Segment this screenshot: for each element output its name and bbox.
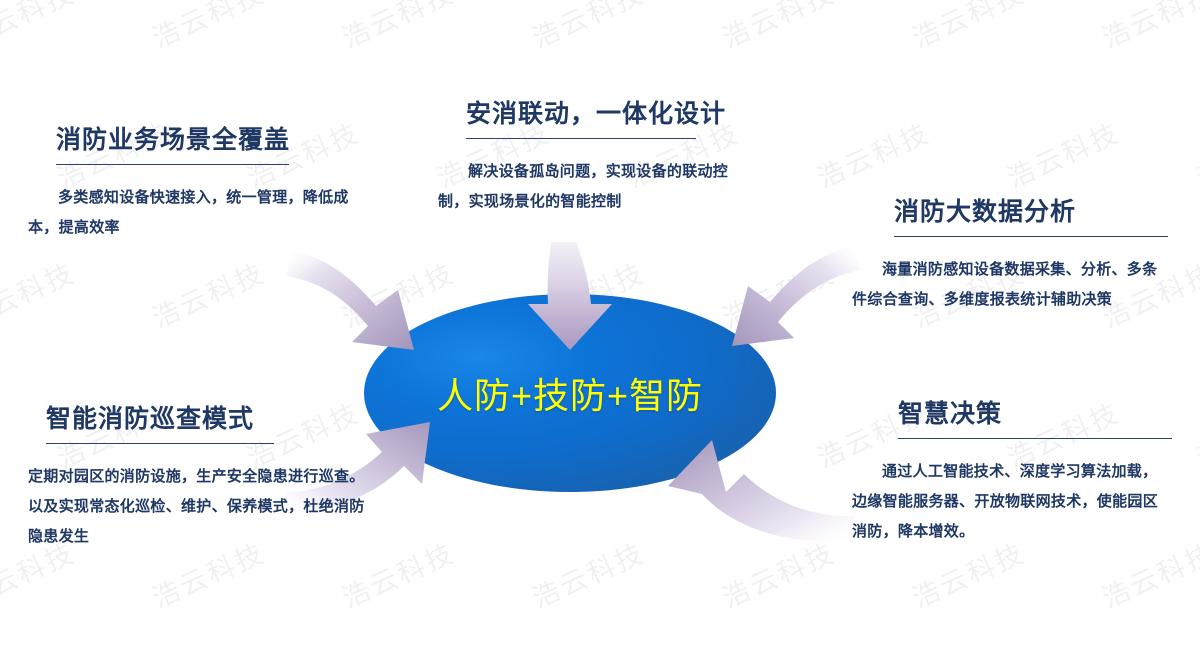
- callout-coverage-rule: [56, 164, 289, 165]
- callout-bigdata: 消防大数据分析 海量消防感知设备数据采集、分析、多条件综合查询、多维度报表统计辅…: [852, 198, 1172, 315]
- watermark-text: 浩云科技: [905, 0, 1030, 56]
- diagram-canvas: 浩云科技浩云科技浩云科技浩云科技浩云科技浩云科技浩云科技浩云科技浩云科技浩云科技…: [0, 0, 1200, 669]
- callout-integration: 安消联动，一体化设计 解决设备孤岛问题，实现设备的联动控制，实现场景化的智能控制: [438, 100, 754, 217]
- watermark-text: 浩云科技: [1190, 391, 1200, 475]
- callout-decision-rule: [898, 438, 1172, 439]
- arrow-from-decision-icon: [668, 440, 858, 558]
- callout-integration-body: 解决设备孤岛问题，实现设备的联动控制，实现场景化的智能控制: [438, 157, 754, 217]
- callout-integration-rule: [466, 138, 696, 139]
- callout-coverage-heading: 消防业务场景全覆盖: [28, 126, 378, 155]
- callout-patrol: 智能消防巡查模式 定期对园区的消防设施，生产安全隐患进行巡查。以及实现常态化巡检…: [28, 405, 378, 552]
- watermark-text: 浩云科技: [145, 0, 270, 56]
- arrow-from-coverage-icon: [278, 246, 458, 366]
- callout-decision: 智慧决策 通过人工智能技术、深度学习算法加载，边缘智能服务器、开放物联网技术，使…: [852, 400, 1172, 547]
- callout-patrol-body: 定期对园区的消防设施，生产安全隐患进行巡查。以及实现常态化巡检、维护、保养模式，…: [28, 462, 378, 552]
- watermark-text: 浩云科技: [0, 251, 80, 335]
- arrow-from-integration-icon: [520, 240, 630, 355]
- callout-coverage: 消防业务场景全覆盖 多类感知设备快速接入，统一管理，降低成本，提高效率: [28, 126, 378, 243]
- callout-patrol-heading: 智能消防巡查模式: [28, 405, 378, 434]
- watermark-text: 浩云科技: [1190, 111, 1200, 195]
- watermark-text: 浩云科技: [525, 531, 650, 615]
- watermark-text: 浩云科技: [1095, 0, 1200, 56]
- watermark-text: 浩云科技: [335, 0, 460, 56]
- watermark-text: 浩云科技: [810, 111, 935, 195]
- watermark-text: 浩云科技: [145, 251, 270, 335]
- watermark-text: 浩云科技: [1000, 111, 1125, 195]
- callout-integration-heading: 安消联动，一体化设计: [438, 100, 754, 129]
- callout-decision-body: 通过人工智能技术、深度学习算法加载，边缘智能服务器、开放物联网技术，使能园区消防…: [852, 457, 1172, 547]
- watermark-text: 浩云科技: [715, 0, 840, 56]
- callout-patrol-rule: [46, 443, 274, 444]
- callout-bigdata-rule: [894, 236, 1168, 237]
- callout-bigdata-heading: 消防大数据分析: [852, 198, 1172, 227]
- callout-decision-heading: 智慧决策: [852, 400, 1172, 429]
- watermark-text: 浩云科技: [0, 0, 80, 56]
- watermark-text: 浩云科技: [525, 0, 650, 56]
- callout-bigdata-body: 海量消防感知设备数据采集、分析、多条件综合查询、多维度报表统计辅助决策: [852, 255, 1172, 315]
- arrow-from-bigdata-icon: [688, 242, 868, 364]
- callout-coverage-body: 多类感知设备快速接入，统一管理，降低成本，提高效率: [28, 183, 378, 243]
